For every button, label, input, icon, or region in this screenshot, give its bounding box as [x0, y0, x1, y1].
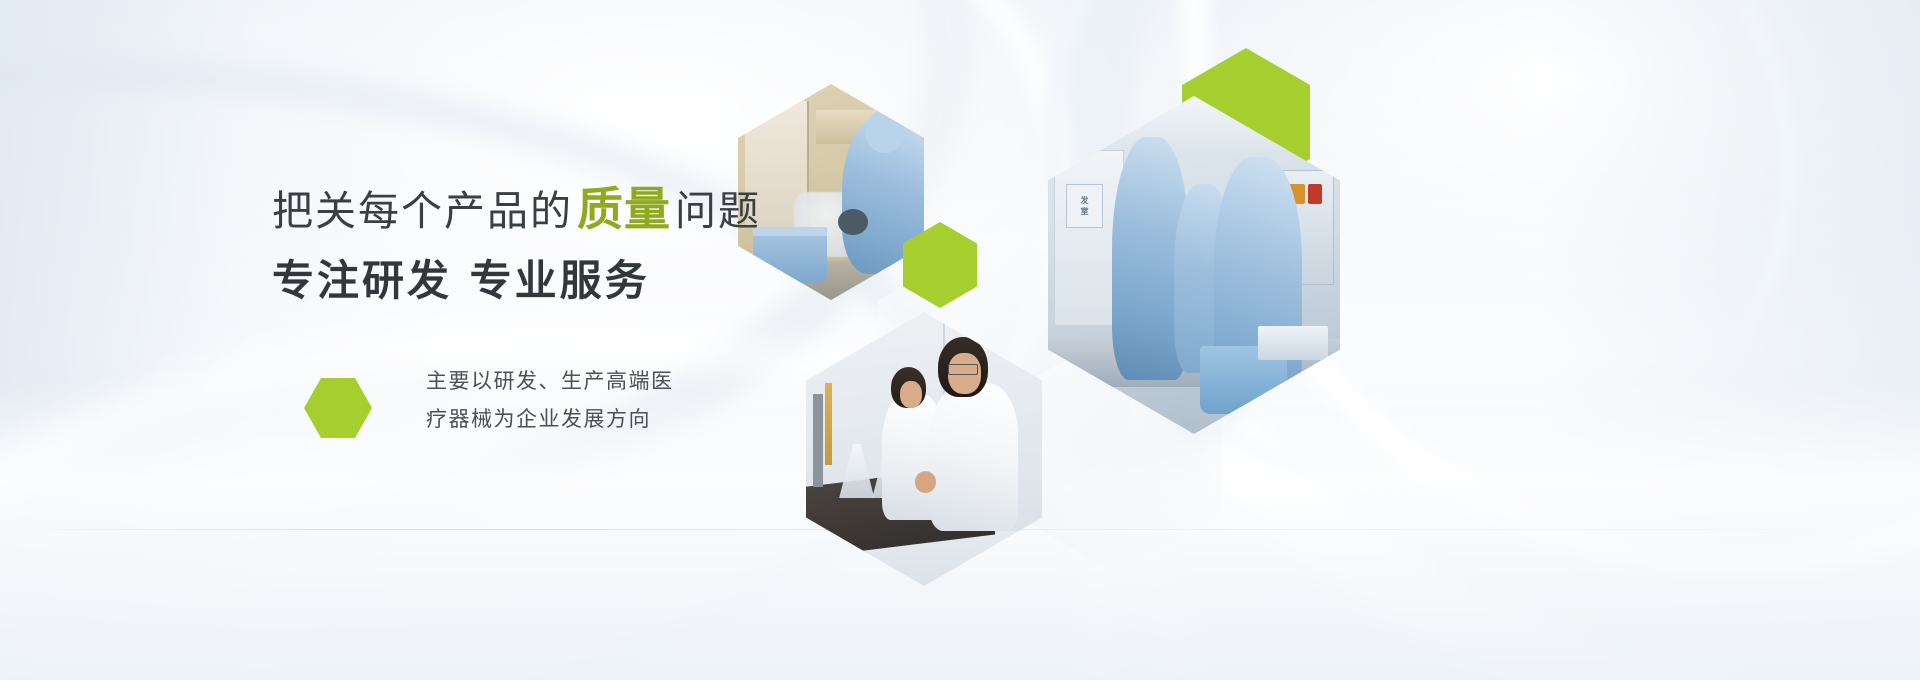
blue-bin: [753, 227, 827, 283]
technician-1-face: [900, 381, 921, 408]
cleanroom-packaging-photo: [738, 84, 924, 300]
page-subtitle: 专注研发 专业服务: [272, 260, 761, 302]
lead-line-1: 主要以研发、生产高端医: [426, 369, 674, 393]
lead-paragraph: 主要以研发、生产高端医疗器械为企业发展方向: [426, 362, 674, 438]
retort-stand: [813, 394, 822, 487]
hero-banner: 把关每个产品的质量问题 专注研发 专业服务 主要以研发、生产高端医疗器械为企业发…: [0, 0, 1920, 680]
door-sign: 发 室: [1066, 184, 1104, 228]
technician-2-glasses: [948, 364, 979, 375]
headline-suffix: 问题: [675, 187, 761, 235]
green-hexagon-bullet-icon: [304, 378, 372, 438]
headline-accent: 质量: [573, 182, 675, 236]
headline-block: 把关每个产品的质量问题 专注研发 专业服务: [272, 186, 761, 302]
supply-tray: [1258, 326, 1328, 360]
lead-line-2: 疗器械为企业发展方向: [426, 407, 651, 431]
page-title: 把关每个产品的质量问题: [272, 186, 761, 232]
headline-prefix: 把关每个产品的: [272, 187, 573, 235]
worker-hood: [865, 110, 906, 153]
technician-2-coat: [929, 383, 1019, 531]
burette: [825, 383, 832, 465]
sign-line-2: 室: [1080, 206, 1088, 217]
technician-hand: [915, 471, 936, 493]
sign-line-1: 发: [1080, 195, 1088, 206]
lead-block: 主要以研发、生产高端医疗器械为企业发展方向: [304, 362, 674, 438]
red-indicator: [1308, 184, 1323, 204]
